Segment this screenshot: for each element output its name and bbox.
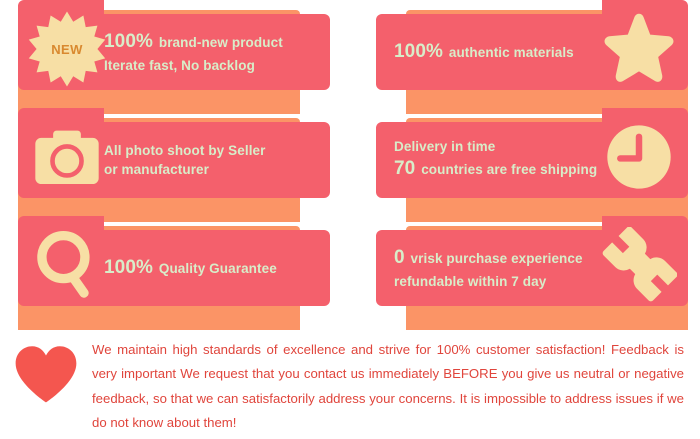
feature-text: All photo shoot by Seller or manufacture…	[104, 141, 266, 179]
feature-line-rest: vrisk purchase experience	[407, 251, 583, 266]
feature-line-rest: Quality Guarantee	[155, 261, 277, 276]
feature-text: 0 vrisk purchase experience refundable w…	[394, 245, 583, 291]
feature-line: Delivery in time	[394, 137, 597, 156]
feature-line: refundable within 7 day	[394, 272, 583, 291]
magnifier-icon	[28, 222, 106, 308]
feature-line-rest: All photo shoot by Seller	[104, 143, 266, 158]
feature-highlight: 0	[394, 247, 405, 268]
feature-line-rest: Iterate fast, No backlog	[104, 58, 255, 73]
feature-text: 100% brand-new product Iterate fast, No …	[104, 29, 283, 75]
feature-grid: 100% brand-new product Iterate fast, No …	[0, 0, 700, 320]
wrench-icon	[598, 222, 680, 308]
feature-line-rest: refundable within 7 day	[394, 274, 546, 289]
feature-row: 100% Quality Guarantee	[18, 216, 348, 316]
star-icon	[598, 6, 680, 92]
feature-line-rest: authentic materials	[445, 45, 574, 60]
feature-row: 100% authentic materials	[358, 0, 688, 100]
feature-row: All photo shoot by Seller or manufacture…	[18, 108, 348, 208]
feature-column-left: 100% brand-new product Iterate fast, No …	[18, 0, 348, 320]
feature-line-rest: or manufacturer	[104, 162, 209, 177]
feature-line: Iterate fast, No backlog	[104, 56, 283, 75]
feature-row: 0 vrisk purchase experience refundable w…	[358, 216, 688, 316]
feature-line: All photo shoot by Seller	[104, 141, 266, 160]
heart-icon	[0, 326, 92, 404]
feature-line-rest: countries are free shipping	[417, 162, 597, 177]
feature-line: 0 vrisk purchase experience	[394, 245, 583, 272]
footer-note-text: We maintain high standards of excellence…	[92, 326, 700, 436]
new-starburst-icon: NEW	[28, 6, 106, 92]
feature-line-rest: brand-new product	[155, 35, 283, 50]
feature-row: Delivery in time 70 countries are free s…	[358, 108, 688, 208]
feature-highlight: 70	[394, 158, 415, 179]
feature-row: 100% brand-new product Iterate fast, No …	[18, 0, 348, 100]
feature-highlight: 100%	[104, 257, 153, 278]
clock-icon	[598, 114, 680, 200]
feature-line: 70 countries are free shipping	[394, 156, 597, 183]
feature-line: or manufacturer	[104, 160, 266, 179]
feature-highlight: 100%	[394, 41, 443, 62]
feature-line: 100% authentic materials	[394, 39, 574, 66]
feature-line-rest: Delivery in time	[394, 139, 495, 154]
camera-icon	[28, 114, 106, 200]
feature-highlight: 100%	[104, 31, 153, 52]
feature-text: Delivery in time 70 countries are free s…	[394, 137, 597, 183]
feature-line: 100% brand-new product	[104, 29, 283, 56]
feature-column-right: 100% authentic materials Delivery in tim…	[358, 0, 688, 320]
footer-note: We maintain high standards of excellence…	[0, 326, 700, 439]
feature-line: 100% Quality Guarantee	[104, 255, 277, 282]
feature-text: 100% Quality Guarantee	[104, 255, 277, 282]
feature-text: 100% authentic materials	[394, 39, 574, 66]
